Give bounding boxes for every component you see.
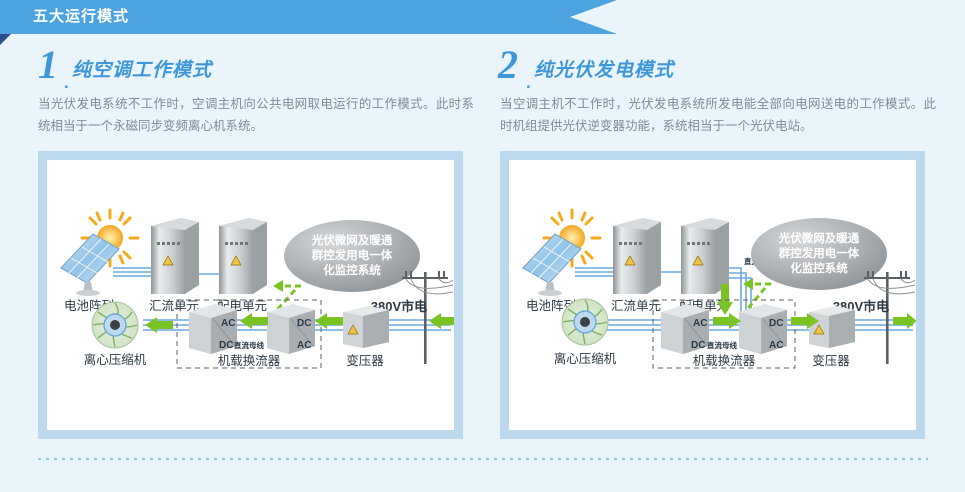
mode-columns: 1 . 纯空调工作模式 当光伏发电系统不工作时，空调主机向公共电网取电运行的工作…	[0, 34, 965, 492]
converter-left-top: AC	[221, 318, 235, 329]
mode-2-description: 当空调主机不工作时，光伏发电系统所发电能全部向电网送电的工作模式。此时机组提供光…	[500, 93, 936, 137]
mode-card-2: 2 . 纯光伏发电模式 当空调主机不工作时，光伏发电系统所发电能全部向电网送电的…	[490, 34, 945, 137]
mode-1-title: 纯空调工作模式	[72, 58, 212, 84]
callout-line-1: 光伏微网及暖通	[311, 233, 393, 247]
label-compressor: 离心压缩机	[84, 352, 147, 367]
flow-arrow-3	[893, 313, 916, 329]
label-dc-bus-mid: 直流母线	[234, 340, 264, 350]
converter-cube-right: DC AC	[267, 304, 315, 354]
distribution-unit-icon	[219, 218, 267, 294]
mode-2-heading: 2 . 纯光伏发电模式	[490, 53, 945, 89]
flow-arrow-3	[315, 313, 343, 329]
solar-array-icon	[523, 210, 600, 296]
mode-1-diagram-frame: 电池阵列 汇流单元 配电单元 光伏微网及暖通 群控发用电一体 化监控系统	[38, 151, 463, 439]
mode-2-title: 纯光伏发电模式	[534, 58, 674, 84]
page-title: 五大运行模式	[33, 7, 129, 27]
transformer-icon	[343, 306, 389, 348]
label-dc-bus-mid: 直流母线	[707, 340, 737, 350]
distribution-unit-icon	[681, 218, 729, 294]
converter-left-bottom: DC	[219, 340, 233, 351]
converter-cube-right: DC AC	[739, 304, 787, 354]
combiner-unit-icon	[151, 218, 199, 294]
mode-2-number-dot: .	[526, 73, 531, 93]
mode-1-diagram-svg: 电池阵列 汇流单元 配电单元 光伏微网及暖通 群控发用电一体 化监控系统	[47, 160, 454, 430]
callout-line-3: 化监控系统	[790, 261, 848, 275]
solar-array-icon	[61, 210, 138, 296]
converter-right-top: DC	[297, 318, 311, 329]
callout-bubble: 光伏微网及暖通 群控发用电一体 化监控系统	[751, 218, 887, 290]
bottom-dotted-divider	[38, 458, 928, 460]
mode-1-description: 当光伏发电系统不工作时，空调主机向公共电网取电运行的工作模式。此时系统相当于一个…	[38, 93, 474, 137]
callout-line-2: 群控发用电一体	[311, 248, 393, 262]
flow-arrow-1	[713, 313, 741, 329]
flow-arrow-4	[429, 313, 454, 329]
combiner-unit-icon	[613, 218, 661, 294]
label-combiner: 汇流单元	[149, 299, 199, 313]
converter-right-bottom: AC	[769, 340, 783, 351]
control-arrow-head-left	[273, 280, 283, 292]
label-transformer: 变压器	[346, 353, 384, 368]
label-converter: 机载换流器	[218, 354, 281, 368]
mode-1-heading: 1 . 纯空调工作模式	[28, 53, 483, 89]
callout-line-1: 光伏微网及暖通	[778, 231, 860, 245]
converter-left-top: AC	[693, 318, 707, 329]
mode-1-number-dot: .	[64, 73, 69, 93]
control-arrow-head-left	[743, 278, 753, 290]
label-compressor: 离心压缩机	[554, 351, 617, 366]
callout-line-3: 化监控系统	[323, 263, 381, 277]
callout-bubble: 光伏微网及暖通 群控发用电一体 化监控系统	[284, 220, 420, 292]
converter-left-bottom: DC	[691, 340, 705, 351]
converter-right-top: DC	[769, 318, 783, 329]
mode-2-number: 2	[498, 45, 518, 85]
converter-right-bottom: AC	[297, 340, 311, 351]
page-header-ribbon: 五大运行模式	[0, 0, 617, 34]
label-converter: 机载换流器	[693, 354, 756, 368]
compressor-icon	[92, 302, 138, 348]
mode-card-1: 1 . 纯空调工作模式 当光伏发电系统不工作时，空调主机向公共电网取电运行的工作…	[28, 34, 483, 137]
mode-2-diagram-frame: 直流母线 电池阵列 汇流单元 配电单元 光伏微网及暖通 群控发用电一体 化监控系…	[500, 151, 925, 439]
mode-2-diagram-svg: 直流母线 电池阵列 汇流单元 配电单元 光伏微网及暖通 群控发用电一体 化监控系…	[509, 160, 916, 430]
mode-1-diagram: 电池阵列 汇流单元 配电单元 光伏微网及暖通 群控发用电一体 化监控系统	[47, 160, 454, 430]
flow-arrow-2	[240, 313, 268, 329]
transformer-icon	[809, 306, 855, 348]
mode-2-diagram: 直流母线 电池阵列 汇流单元 配电单元 光伏微网及暖通 群控发用电一体 化监控系…	[509, 160, 916, 430]
converter-cube-left: AC DC	[661, 304, 709, 354]
compressor-icon	[562, 299, 608, 345]
label-transformer: 变压器	[812, 353, 850, 368]
mode-1-number: 1	[38, 45, 58, 85]
label-combiner: 汇流单元	[611, 299, 661, 313]
callout-line-2: 群控发用电一体	[778, 246, 860, 260]
converter-cube-left: AC DC	[189, 304, 237, 354]
